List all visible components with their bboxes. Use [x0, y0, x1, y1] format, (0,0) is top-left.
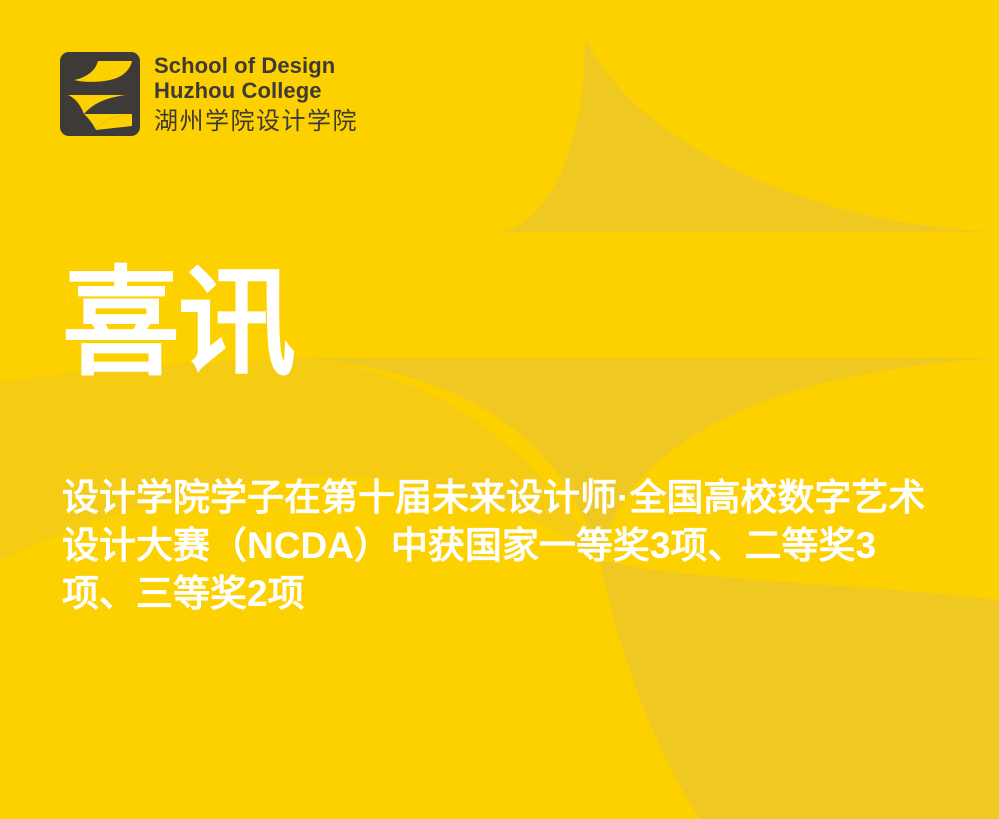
- logo-wordmark: School of Design Huzhou College 湖州学院设计学院: [154, 52, 358, 137]
- announcement-body: 设计学院学子在第十届未来设计师·全国高校数字艺术设计大赛（NCDA）中获国家一等…: [62, 474, 942, 618]
- logo-line-huzhou-college: Huzhou College: [154, 78, 358, 103]
- watermark-shape-upper: [490, 38, 999, 232]
- logo-lockup: School of Design Huzhou College 湖州学院设计学院: [60, 52, 358, 137]
- logo-line-chinese: 湖州学院设计学院: [154, 107, 358, 137]
- logo-mark-icon: [60, 52, 140, 136]
- page-title: 喜讯: [62, 265, 294, 383]
- announcement-poster: School of Design Huzhou College 湖州学院设计学院…: [0, 0, 999, 819]
- logo-line-school-of-design: School of Design: [154, 53, 358, 78]
